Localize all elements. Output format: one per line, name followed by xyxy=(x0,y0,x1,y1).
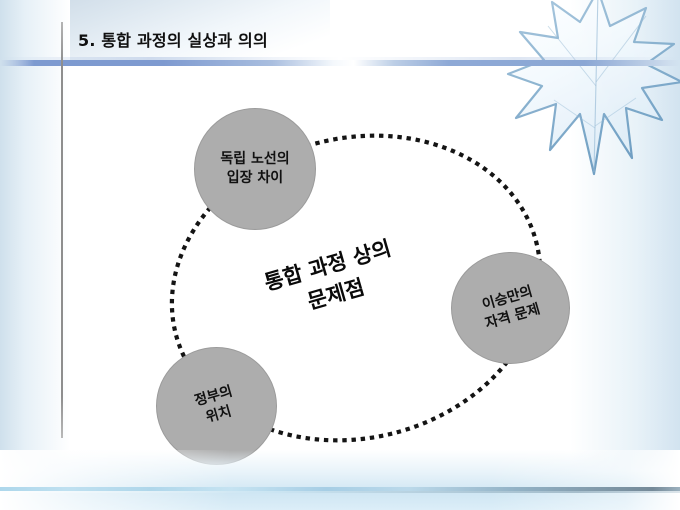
node-government-position[interactable]: 정부의 위치 xyxy=(156,347,277,465)
node-independence-line[interactable]: 독립 노선의 입장 차이 xyxy=(194,108,316,230)
node-syngman-rhee-qualification[interactable]: 이승만의 자격 문제 xyxy=(451,252,570,364)
node-label: 정부의 위치 xyxy=(193,383,241,430)
node-label: 독립 노선의 입장 차이 xyxy=(220,150,289,188)
cycle-diagram: 독립 노선의 입장 차이 이승만의 자격 문제 정부의 위치 통합 과정 상의 … xyxy=(0,0,680,510)
node-label: 이승만의 자격 문제 xyxy=(478,282,543,334)
slide-canvas: 5. 통합 과정의 실상과 의의 독립 노선의 입장 차이 이승만의 자격 문제… xyxy=(0,0,680,510)
